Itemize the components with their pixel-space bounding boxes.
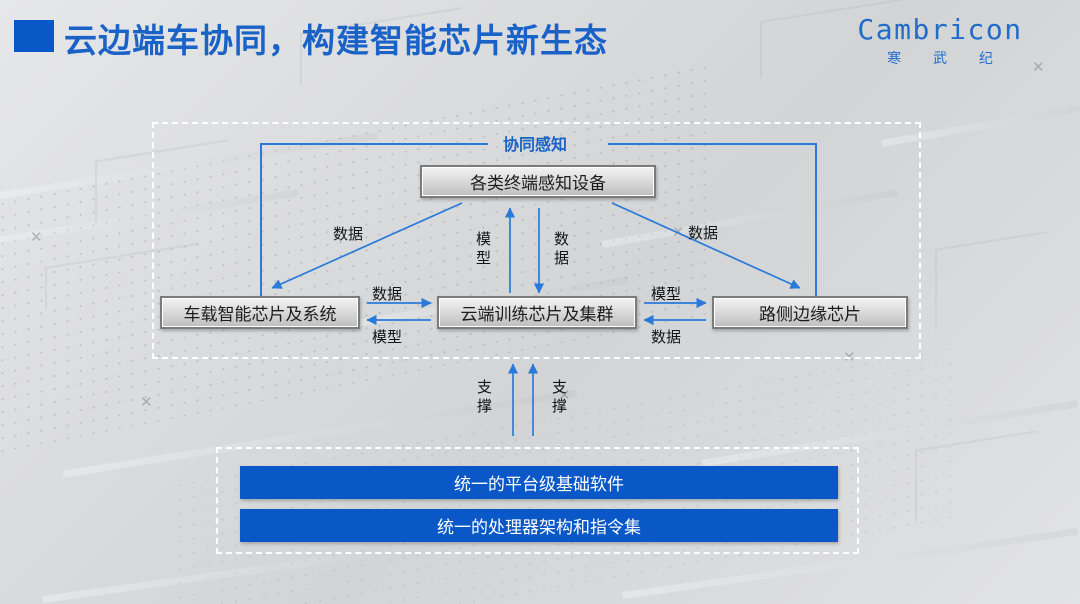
label-road-cloud-data: 数据 (651, 326, 681, 347)
label-vehicle-cloud-data: 数据 (372, 283, 402, 304)
label-support-right: 支撑 (552, 378, 567, 416)
box-vehicle-ai-chip-system[interactable]: 车载智能芯片及系统 (160, 296, 360, 329)
box-roadside-edge-chip[interactable]: 路侧边缘芯片 (712, 296, 908, 329)
bar-platform-base-software[interactable]: 统一的平台级基础软件 (240, 466, 838, 499)
box-cloud-training-chip-cluster[interactable]: 云端训练芯片及集群 (437, 296, 637, 329)
label-sensor-road-data: 数据 (688, 222, 718, 243)
label-sensor-cloud-data: 数据 (554, 230, 569, 268)
bar-processor-arch-isa[interactable]: 统一的处理器架构和指令集 (240, 509, 838, 542)
label-support-left: 支撑 (477, 378, 492, 416)
label-cloud-vehicle-model: 模型 (372, 326, 402, 347)
label-cloud-sensor-model: 模型 (476, 230, 491, 268)
slide-canvas: ✕ ✕ ✕ ✕ ✕ ✕ 云边端车协同，构建智能芯片新生态 Cambricon 寒… (0, 0, 1080, 604)
box-terminal-sensing-devices[interactable]: 各类终端感知设备 (420, 165, 656, 198)
label-vehicle-sensor-data: 数据 (333, 223, 363, 244)
label-cloud-road-model: 模型 (651, 283, 681, 304)
